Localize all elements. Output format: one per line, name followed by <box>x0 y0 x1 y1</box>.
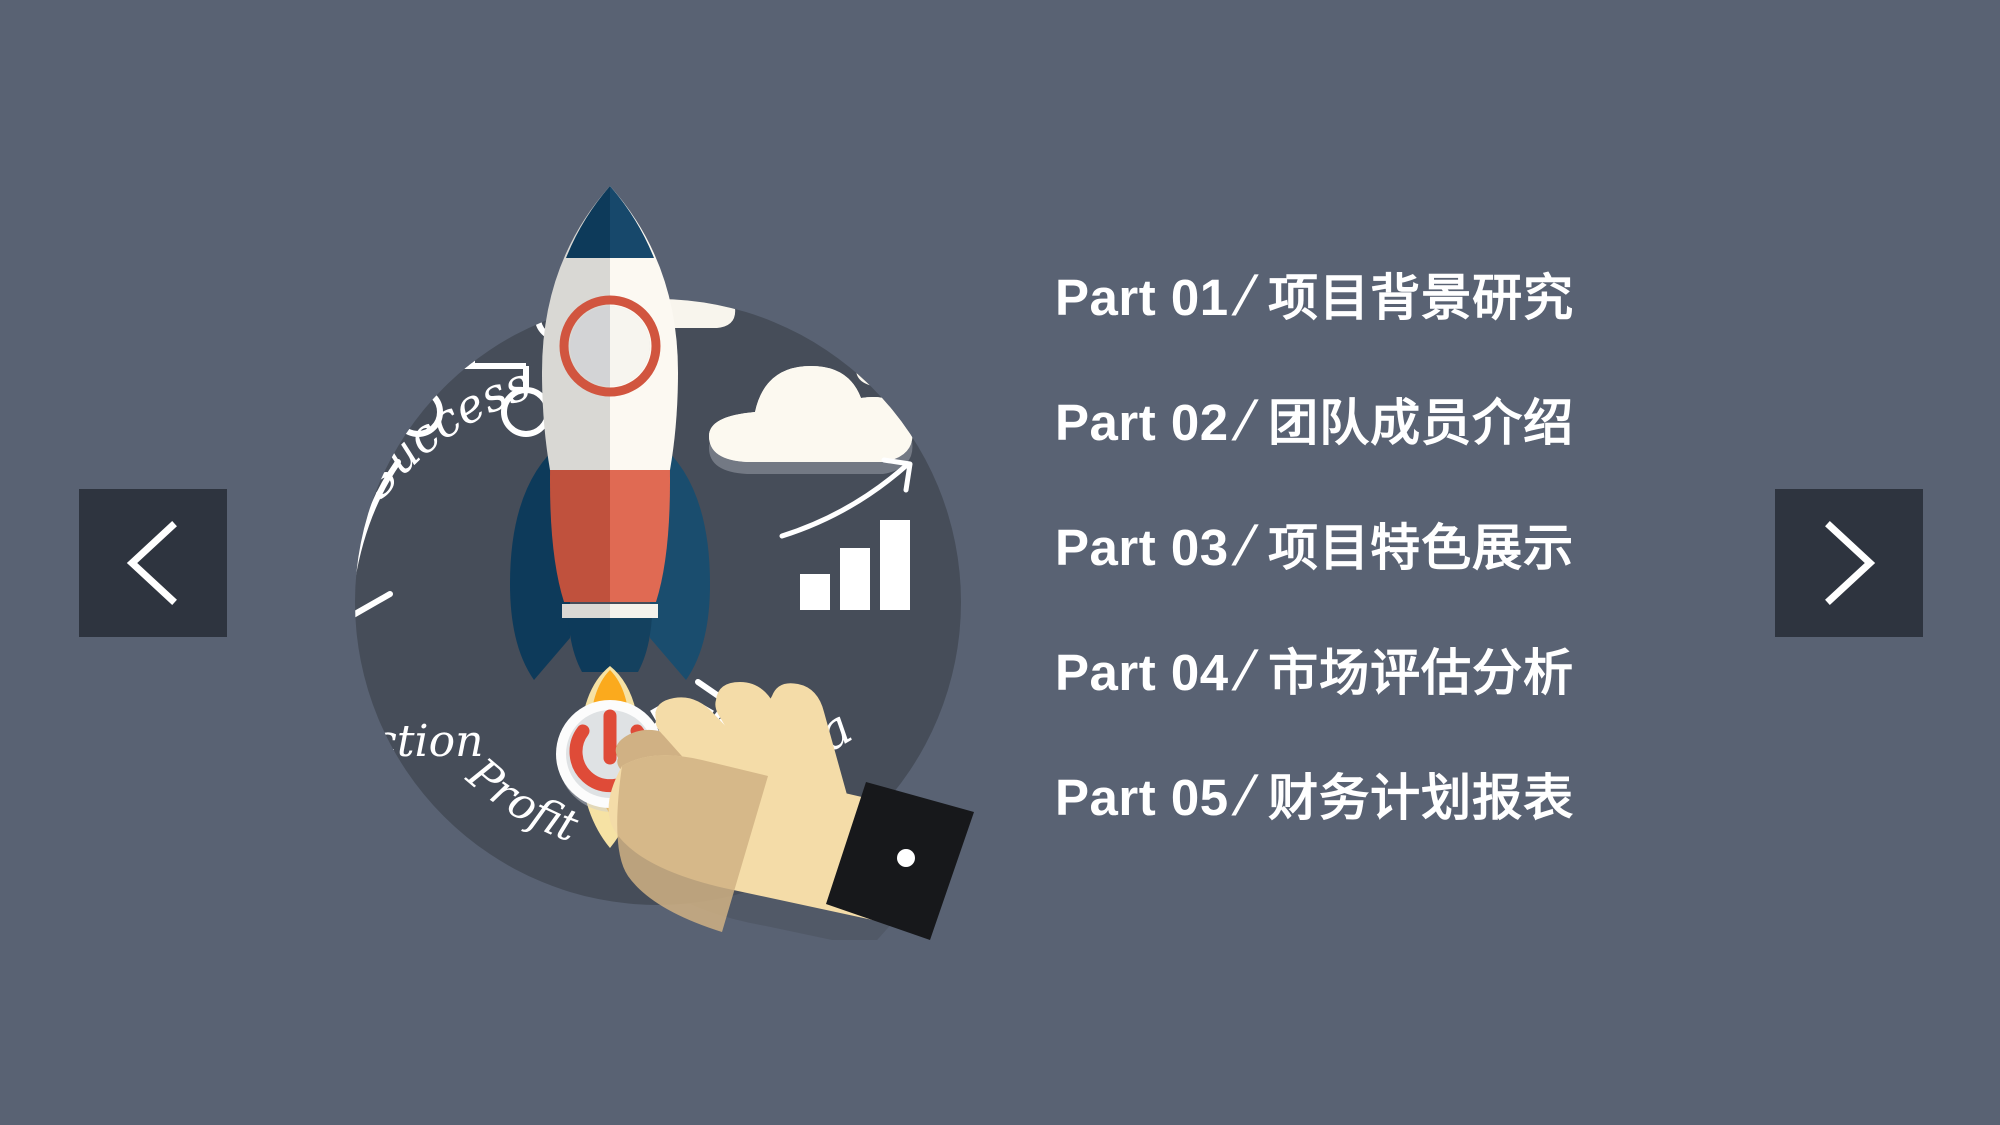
cuff-button <box>897 849 915 867</box>
previous-slide-button[interactable] <box>79 489 227 637</box>
agenda-list: Part 01 / 项目背景研究 Part 02 / 团队成员介绍 Part 0… <box>1055 268 1875 893</box>
agenda-item-2-part: Part 02 <box>1055 397 1229 448</box>
presentation-slide: Success action Profit idea <box>0 0 2000 1125</box>
agenda-item-2[interactable]: Part 02 / 团队成员介绍 <box>1055 393 1875 518</box>
agenda-item-3[interactable]: Part 03 / 项目特色展示 <box>1055 518 1875 643</box>
agenda-item-4[interactable]: Part 04 / 市场评估分析 <box>1055 643 1875 768</box>
agenda-item-5[interactable]: Part 05 / 财务计划报表 <box>1055 768 1875 893</box>
agenda-item-1-part: Part 01 <box>1055 272 1229 323</box>
agenda-item-2-separator: / <box>1229 393 1261 449</box>
agenda-item-1-label: 项目背景研究 <box>1268 273 1574 323</box>
agenda-item-3-separator: / <box>1229 518 1261 574</box>
agenda-item-1-separator: / <box>1229 268 1261 324</box>
rocket-launch-illustration: Success action Profit idea <box>300 180 1000 940</box>
agenda-item-5-separator: / <box>1229 768 1261 824</box>
agenda-item-5-part: Part 05 <box>1055 772 1229 823</box>
agenda-item-4-separator: / <box>1229 643 1261 699</box>
rocket-nose-left <box>566 186 610 258</box>
agenda-item-4-part: Part 04 <box>1055 647 1229 698</box>
agenda-item-5-label: 财务计划报表 <box>1268 773 1574 823</box>
agenda-item-4-label: 市场评估分析 <box>1268 648 1574 698</box>
handwriting-action: action <box>346 716 483 767</box>
chevron-left-icon <box>122 520 184 606</box>
rocket-nose-right <box>610 186 654 258</box>
agenda-item-2-label: 团队成员介绍 <box>1268 398 1574 448</box>
agenda-item-3-part: Part 03 <box>1055 522 1229 573</box>
agenda-item-3-label: 项目特色展示 <box>1268 523 1574 573</box>
agenda-item-1[interactable]: Part 01 / 项目背景研究 <box>1055 268 1875 393</box>
rocket-stripe-shadow <box>562 604 610 618</box>
